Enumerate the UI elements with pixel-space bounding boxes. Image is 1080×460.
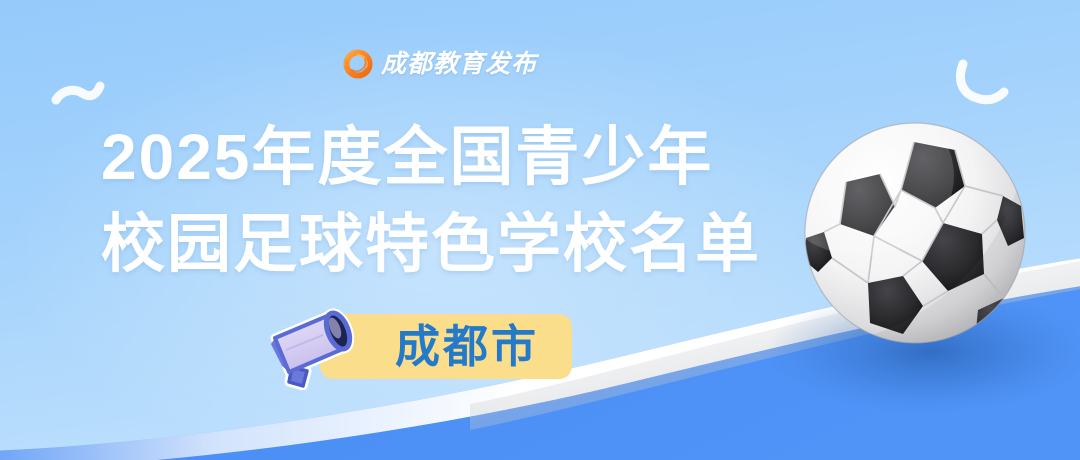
megaphone-icon <box>262 304 362 390</box>
orange-swirl-ring-icon <box>343 49 373 79</box>
publisher-logo: 成都教育发布 <box>343 47 537 81</box>
promo-banner: 成都教育发布 2025年度全国青少年 校园足球特色学校名单 成都市 <box>0 0 1080 460</box>
title-line-1: 2025年度全国青少年 <box>101 114 781 201</box>
city-badge: 成都市 <box>262 304 582 390</box>
publisher-name: 成都教育发布 <box>381 49 537 79</box>
title-line-2: 校园足球特色学校名单 <box>101 201 781 288</box>
page-title: 2025年度全国青少年 校园足球特色学校名单 <box>101 114 781 288</box>
soccer-ball-icon <box>802 120 1028 346</box>
